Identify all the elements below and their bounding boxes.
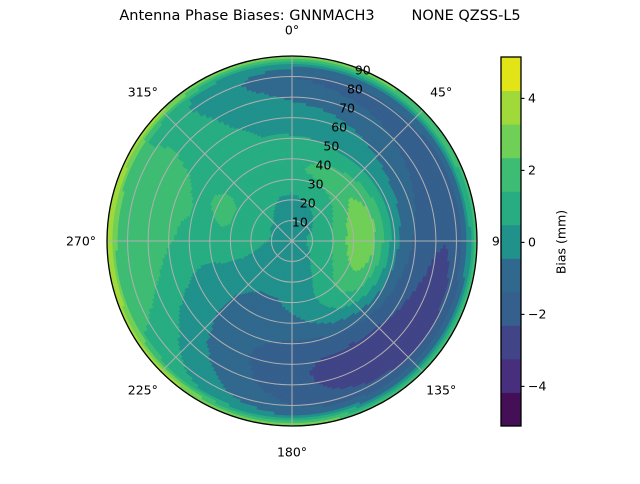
colorbar-axis-label: Bias (mm) <box>554 209 569 273</box>
colorbar-band-10 <box>501 57 521 91</box>
colorbar-band-5 <box>501 225 521 259</box>
colorbar-swatches <box>501 57 521 427</box>
figure-canvas: Antenna Phase Biases: GNNMACH3 NONE QZSS… <box>0 0 640 480</box>
colorbar-band-6 <box>501 191 521 225</box>
colorbar-tick-label-0: 4 <box>528 91 536 106</box>
colorbar-tick-label-1: 2 <box>528 163 536 178</box>
colorbar-band-7 <box>501 158 521 192</box>
colorbar-band-9 <box>501 91 521 125</box>
colorbar-band-1 <box>501 359 521 393</box>
colorbar-band-3 <box>501 292 521 326</box>
colorbar-tick-label-2: 0 <box>528 235 536 250</box>
colorbar-band-4 <box>501 258 521 292</box>
colorbar-axes <box>0 0 640 480</box>
colorbar-band-0 <box>501 392 521 426</box>
colorbar-svg <box>0 0 640 480</box>
colorbar-tick-label-3: −2 <box>528 307 546 322</box>
colorbar-band-8 <box>501 124 521 158</box>
colorbar-band-2 <box>501 325 521 359</box>
colorbar-tick-label-4: −4 <box>528 379 546 394</box>
